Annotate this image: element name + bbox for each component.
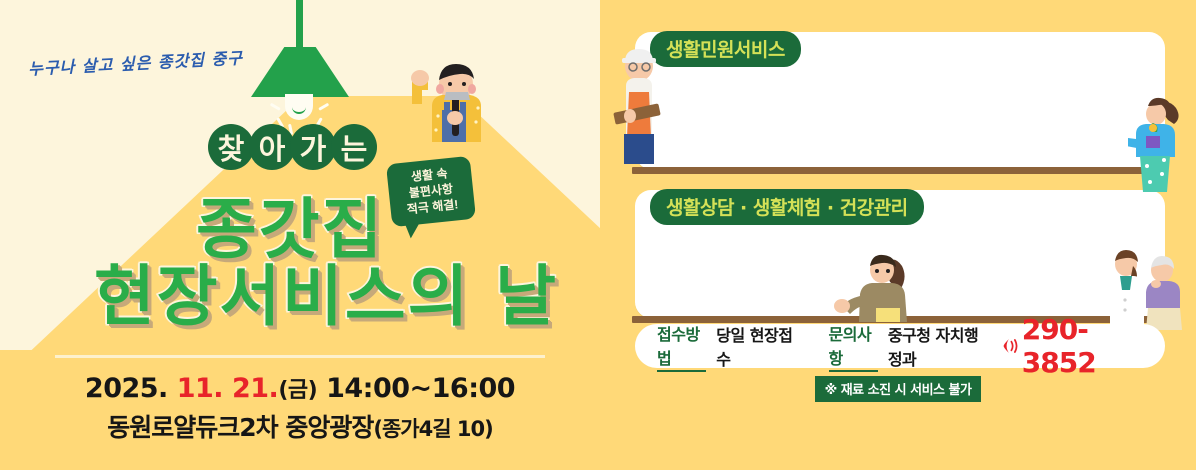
- event-address: (종가4길 10): [373, 417, 492, 441]
- inquiry-value: 중구청 자치행정과: [888, 322, 991, 370]
- title-badge-char: 아: [249, 124, 295, 170]
- phone-number[interactable]: 290-3852: [1022, 313, 1143, 379]
- person-with-plant-illustration: [1128, 94, 1194, 194]
- reception-method-value: 당일 현장접수: [716, 322, 794, 370]
- city-slogan: 누구나 살고 싶은 종갓집 중구: [28, 44, 244, 79]
- title-badge-char: 가: [290, 124, 336, 170]
- phone-ring-icon: [1001, 335, 1020, 357]
- notice-banner: ※ 재료 소진 시 서비스 불가: [600, 376, 1196, 402]
- wood-shelf-icon: [632, 167, 1168, 174]
- reception-method-label: 접수방법: [657, 321, 706, 372]
- event-place: 동원로얄듀크2차 중앙광장: [107, 413, 373, 442]
- event-date-line: 2025. 11. 21.(금) 14:00~16:00: [0, 372, 600, 404]
- inquiry-label: 문의사항: [829, 321, 878, 372]
- event-year: 2025.: [85, 373, 168, 404]
- title-badge-char: 는: [331, 124, 377, 170]
- elderly-carpenter-illustration: [608, 42, 670, 167]
- poster-root: 누구나 살고 싶은 종갓집 중구 찾 아 가 는 종갓집 현장서비스의 날: [0, 0, 1196, 470]
- service-box-2-title: 생활상담 · 생활체험 · 건강관리: [650, 189, 924, 225]
- title-badge-char: 찾: [208, 124, 254, 170]
- contact-bar: 접수방법 당일 현장접수 문의사항 중구청 자치행정과 290-3852: [635, 324, 1165, 368]
- event-place-line: 동원로얄듀크2차 중앙광장(종가4길 10): [0, 408, 600, 444]
- notice-text: ※ 재료 소진 시 서비스 불가: [815, 376, 982, 402]
- title-line-3: 현장서비스의 날: [94, 243, 558, 339]
- bulb-ray-icon: [270, 103, 281, 111]
- worker-with-hammer-illustration: [398, 58, 502, 168]
- event-day: 21.: [232, 373, 278, 404]
- event-month: 11.: [177, 373, 223, 404]
- right-panel: 생활민원서비스 칼갈이(1인 3자루), 구두수선, 자전거 수리 나무도마 수…: [600, 0, 1196, 470]
- lamp-shade-icon: [251, 47, 349, 97]
- title-line-1: 찾 아 가 는: [208, 124, 372, 170]
- divider: [55, 355, 545, 358]
- counselor-illustration: [830, 250, 924, 322]
- left-panel: 누구나 살고 싶은 종갓집 중구 찾 아 가 는 종갓집 현장서비스의 날: [0, 0, 600, 470]
- lamp-cord-icon: [296, 0, 303, 50]
- event-time: 14:00~16:00: [326, 373, 515, 404]
- event-weekday: (금): [278, 378, 317, 403]
- speech-bubble: 생활 속 불편사항 적극 해결!: [386, 156, 476, 227]
- service-box-1-title: 생활민원서비스: [650, 31, 801, 67]
